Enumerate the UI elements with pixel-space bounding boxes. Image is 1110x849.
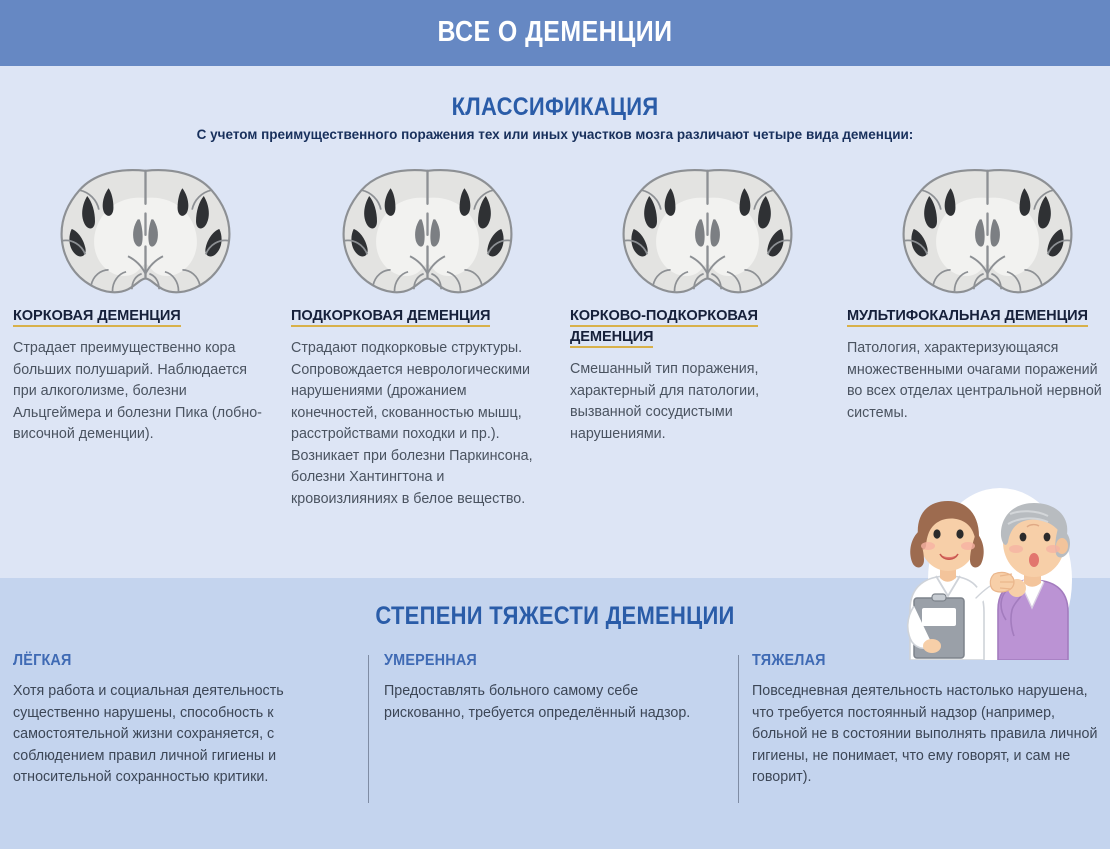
column-divider (738, 655, 739, 803)
brain-illustration-row (0, 163, 1110, 303)
brain-coronal-icon (330, 163, 525, 299)
dementia-type-heading: КОРКОВАЯ ДЕМЕНЦИЯ (13, 306, 271, 327)
severity-level-severe: ТЯЖЕЛАЯ Повседневная деятельность настол… (752, 652, 1100, 789)
page-title: ВСЕ О ДЕМЕНЦИИ (78, 16, 1033, 49)
column-divider (368, 655, 369, 803)
severity-levels: ЛЁГКАЯ Хотя работа и социальная деятельн… (0, 652, 1110, 832)
severity-level-moderate: УМЕРЕННАЯ Предоставлять больного самому … (384, 652, 704, 724)
dementia-type-body: Страдают подкорковые структуры. Сопровож… (291, 338, 553, 510)
dementia-type-cortical-subcortical: КОРКОВО-ПОДКОРКОВАЯ ДЕМЕНЦИЯ Смешанный т… (570, 306, 820, 445)
classification-subtitle: С учетом преимущественного поражения тех… (0, 127, 1110, 142)
dementia-type-body: Смешанный тип поражения, характерный для… (570, 359, 820, 445)
dementia-type-heading: МУЛЬТИФОКАЛЬНАЯ ДЕМЕНЦИЯ (847, 306, 1102, 327)
brain-coronal-icon (610, 163, 805, 299)
infographic-poster: ВСЕ О ДЕМЕНЦИИ КЛАССИФИКАЦИЯ С учетом пр… (0, 0, 1110, 849)
severity-level-body: Хотя работа и социальная деятельность су… (13, 681, 343, 789)
dementia-type-body: Патология, характеризующаяся множественн… (847, 338, 1102, 424)
severity-level-heading: УМЕРЕННАЯ (384, 652, 672, 670)
brain-coronal-icon (890, 163, 1085, 299)
dementia-type-multifocal: МУЛЬТИФОКАЛЬНАЯ ДЕМЕНЦИЯ Патология, хара… (847, 306, 1102, 424)
nurse-and-elderly-woman-illustration (880, 470, 1110, 660)
dementia-type-heading: КОРКОВО-ПОДКОРКОВАЯ ДЕМЕНЦИЯ (570, 306, 820, 348)
classification-heading: КЛАССИФИКАЦИЯ (67, 93, 1044, 122)
severity-level-body: Предоставлять больного самому себе риско… (384, 681, 704, 724)
brain-coronal-icon (48, 163, 243, 299)
severity-level-mild: ЛЁГКАЯ Хотя работа и социальная деятельн… (13, 652, 343, 789)
dementia-type-body: Страдает преимущественно кора больших по… (13, 338, 271, 446)
severity-level-body: Повседневная деятельность настолько нару… (752, 681, 1100, 789)
dementia-type-heading: ПОДКОРКОВАЯ ДЕМЕНЦИЯ (291, 306, 553, 327)
header-band: ВСЕ О ДЕМЕНЦИИ (0, 0, 1110, 66)
severity-level-heading: ЛЁГКАЯ (13, 652, 310, 670)
dementia-type-cortical: КОРКОВАЯ ДЕМЕНЦИЯ Страдает преимуществен… (13, 306, 271, 446)
dementia-type-subcortical: ПОДКОРКОВАЯ ДЕМЕНЦИЯ Страдают подкорковы… (291, 306, 553, 510)
